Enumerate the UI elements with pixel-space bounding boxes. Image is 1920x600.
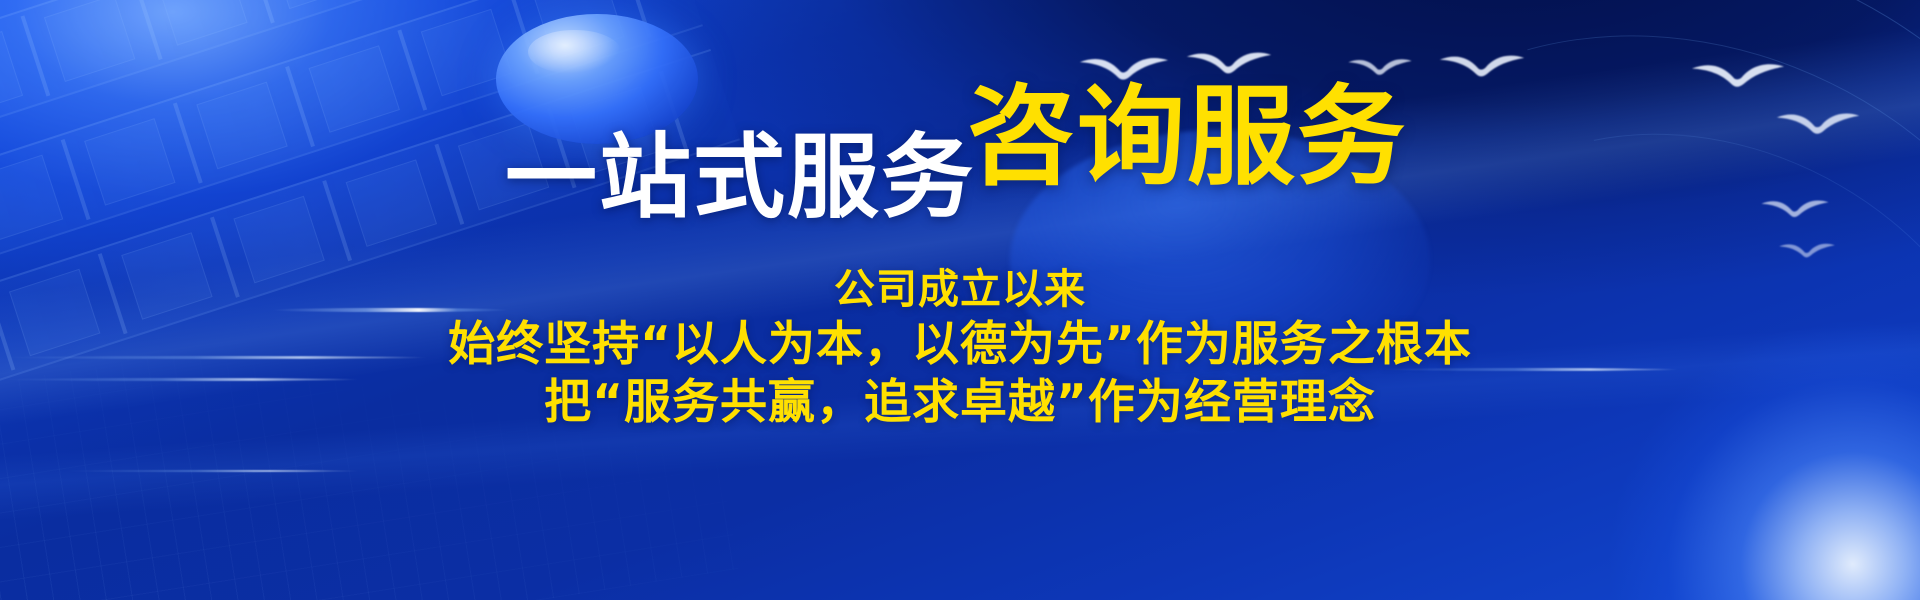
subtitle-line-3: 把“服务共赢，追求卓越”作为经营理念 [0,374,1920,432]
seagull-icon [1185,47,1273,75]
subtitle-block: 公司成立以来 始终坚持“以人为本，以德为先”作为服务之根本 把“服务共赢，追求卓… [0,262,1920,432]
seagull-icon [1347,55,1413,77]
headline: 一站式服务 咨询服务 [0,84,1920,192]
subtitle-line-1: 公司成立以来 [0,262,1920,316]
promo-banner: 一站式服务 咨询服务 公司成立以来 始终坚持“以人为本，以德为先”作为服务之根本… [0,0,1920,600]
seagull-icon [1438,50,1526,78]
subtitle-line-2: 始终坚持“以人为本，以德为先”作为服务之根本 [0,316,1920,374]
headline-yellow-text: 咨询服务 [967,84,1407,192]
light-streak [60,470,360,472]
seagull-icon [1778,240,1836,260]
seagull-icon [1760,196,1830,220]
headline-white-text: 一站式服务 [505,132,975,224]
